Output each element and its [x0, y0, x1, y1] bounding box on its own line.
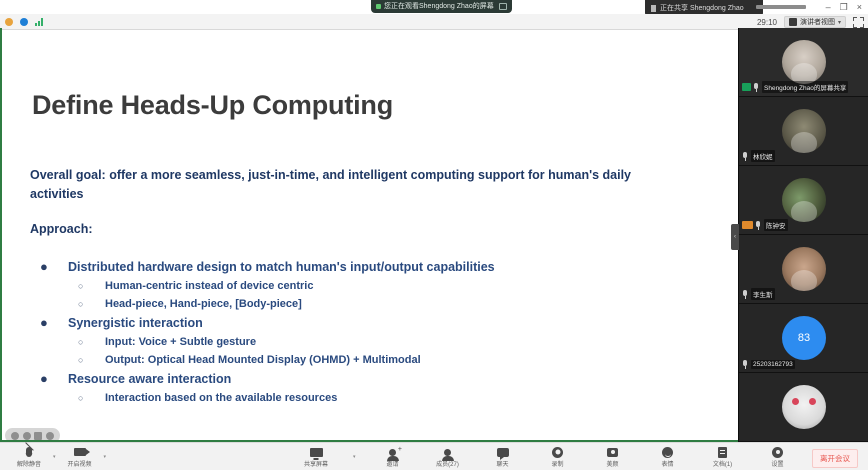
screen-share-icon	[310, 447, 323, 458]
bottom-left-controls: 解除静音▾开启视频▾	[8, 443, 109, 470]
slide-bullet-level-2: ○Input: Voice + Subtle gesture	[30, 334, 690, 351]
participant-name-badge: 陈钟安	[742, 219, 788, 231]
mic-icon	[742, 290, 749, 299]
maximize-icon[interactable]: ❐	[840, 3, 848, 12]
toolbar-button-label: 共享屏幕	[304, 459, 328, 468]
avatar	[782, 40, 826, 84]
bullet-marker-icon: ○	[30, 352, 105, 369]
avatar: 83	[782, 316, 826, 360]
minimize-icon[interactable]: –	[826, 3, 831, 12]
window-icon	[651, 5, 656, 12]
slide-bullet-level-2: ○Human-centric instead of device centric	[30, 278, 690, 295]
bullet-text: Resource aware interaction	[68, 370, 231, 388]
participant-name-badge: 林欣妮	[742, 150, 775, 162]
mic-icon	[742, 152, 749, 161]
screen-share-status-label: 您正在观看Shengdong Zhao的屏幕	[384, 0, 494, 13]
view-switch-button[interactable]: 演讲者视图 ▾	[784, 16, 846, 28]
screen-share-icon	[742, 83, 751, 91]
participant-name: Shengdong Zhao的屏幕共享	[762, 81, 848, 93]
pen-icon[interactable]	[23, 432, 31, 440]
toolbar-button-camera-off[interactable]: 开启视频	[59, 443, 101, 470]
slide-title: Define Heads-Up Computing	[32, 90, 393, 121]
toolbar-button-label: 录制	[552, 459, 564, 468]
mic-icon	[755, 221, 762, 230]
chevron-down-icon[interactable]: ▾	[101, 454, 110, 460]
chat-icon	[497, 447, 509, 458]
info-icon[interactable]	[20, 18, 28, 26]
slide-bullet-level-1: ●Distributed hardware design to match hu…	[30, 258, 690, 276]
chevron-down-icon[interactable]: ▾	[350, 454, 359, 460]
prev-slide-icon[interactable]	[11, 432, 19, 440]
participant-name: 林欣妮	[751, 150, 775, 162]
bullet-marker-icon: ●	[30, 370, 68, 388]
toolbar-button-record[interactable]: 录制	[537, 443, 579, 470]
participant-rail[interactable]: ‹ ▾ Shengdong Zhao的屏幕共享林欣妮陈钟安李生斯83252031…	[738, 28, 868, 442]
presenter-toolbar-pill[interactable]	[5, 428, 60, 440]
toolbar-button-invite-person[interactable]: 邀请	[372, 443, 414, 470]
toolbar-button-mic-muted[interactable]: 解除静音	[8, 443, 50, 470]
bullet-text: Human-centric instead of device centric	[105, 278, 313, 295]
chevron-down-icon[interactable]: ▾	[50, 454, 59, 460]
invite-person-icon	[389, 447, 396, 458]
bottom-center-controls: 共享屏幕▾邀请成员(27)聊天录制美颜表情文档(1)设置	[295, 443, 799, 470]
participant-name: 李生斯	[751, 288, 775, 300]
toolbar-button-label: 聊天	[497, 459, 509, 468]
participant-name-badge: 25203162793	[742, 360, 795, 369]
mic-icon	[753, 83, 760, 92]
rail-collapse-handle[interactable]: ‹	[731, 224, 739, 250]
chevron-down-icon: ▾	[838, 19, 841, 26]
toolbar-button-emoji[interactable]: 表情	[647, 443, 689, 470]
bullet-marker-icon: ○	[30, 334, 105, 351]
mic-icon	[742, 360, 749, 369]
slide-approach-label: Approach:	[30, 222, 93, 236]
slide-bullet-level-1: ●Resource aware interaction	[30, 370, 690, 388]
avatar-face	[791, 270, 817, 291]
toolbar-button-label: 设置	[772, 459, 784, 468]
toolbar-button-label: 解除静音	[17, 459, 41, 468]
meeting-bottom-toolbar: 解除静音▾开启视频▾ 共享屏幕▾邀请成员(27)聊天录制美颜表情文档(1)设置 …	[0, 442, 868, 470]
participant-tile[interactable]: 李生斯	[739, 235, 868, 304]
bullet-marker-icon: ●	[30, 258, 68, 276]
top-window-chrome: 您正在观看Shengdong Zhao的屏幕 正在共享 Shengdong Zh…	[0, 0, 868, 14]
avatar	[782, 109, 826, 153]
meeting-timer: 29:10	[757, 18, 777, 27]
bullet-marker-icon: ○	[30, 278, 105, 295]
participants-icon	[444, 447, 451, 458]
document-icon	[718, 447, 727, 458]
bullet-text: Distributed hardware design to match hum…	[68, 258, 495, 276]
window-drag-strip[interactable]	[756, 5, 806, 9]
toolbar-button-document[interactable]: 文档(1)	[702, 443, 744, 470]
view-switch-label: 演讲者视图	[800, 17, 835, 27]
avatar	[782, 178, 826, 222]
participant-tile[interactable]	[739, 373, 868, 442]
participant-name-badge: 李生斯	[742, 288, 775, 300]
avatar	[782, 385, 826, 429]
slide-grid-icon[interactable]	[34, 432, 42, 440]
slide-bullet-list: ●Distributed hardware design to match hu…	[30, 258, 690, 408]
next-slide-icon[interactable]	[46, 432, 54, 440]
toolbar-button-settings-gear[interactable]: 设置	[757, 443, 799, 470]
slide-bullet-level-2: ○Output: Optical Head Mounted Display (O…	[30, 352, 690, 369]
close-icon[interactable]: ×	[857, 3, 862, 12]
slide-bullet-level-2: ○Interaction based on the available reso…	[30, 390, 690, 407]
participant-name-badge: Shengdong Zhao的屏幕共享	[742, 81, 848, 93]
toolbar-button-beauty[interactable]: 美颜	[592, 443, 634, 470]
record-icon	[552, 447, 563, 458]
slide-bullet-level-1: ●Synergistic interaction	[30, 314, 690, 332]
share-border-left	[0, 28, 2, 442]
mic-muted-icon	[26, 447, 32, 458]
stop-share-icon[interactable]	[499, 3, 507, 10]
presentation-slide: Define Heads-Up Computing Overall goal: …	[0, 30, 738, 440]
shield-icon[interactable]	[5, 18, 13, 26]
avatar-decor-icon	[792, 398, 799, 405]
toolbar-button-label: 文档(1)	[713, 459, 732, 468]
slide-bullet-level-2: ○Head-piece, Hand-piece, [Body-piece]	[30, 296, 690, 313]
beauty-icon	[607, 447, 618, 458]
emoji-icon	[662, 447, 673, 458]
avatar-face	[791, 132, 817, 153]
network-signal-icon[interactable]	[35, 18, 44, 26]
participant-tile[interactable]: 林欣妮	[739, 97, 868, 166]
bullet-text: Synergistic interaction	[68, 314, 203, 332]
participant-name: 25203162793	[751, 360, 795, 369]
avatar	[782, 247, 826, 291]
sharing-window-title: 正在共享 Shengdong Zhao	[660, 3, 744, 13]
bullet-text: Output: Optical Head Mounted Display (OH…	[105, 352, 421, 369]
participant-tile[interactable]: 8325203162793	[739, 304, 868, 373]
settings-gear-icon	[772, 447, 783, 458]
bullet-text: Interaction based on the available resou…	[105, 390, 337, 407]
bullet-text: Input: Voice + Subtle gesture	[105, 334, 256, 351]
toolbar-button-label: 美颜	[607, 459, 619, 468]
participant-tile[interactable]: 陈钟安	[739, 166, 868, 235]
participant-name: 陈钟安	[764, 219, 788, 231]
toolbar-button-label: 表情	[662, 459, 674, 468]
bullet-marker-icon: ○	[30, 390, 105, 407]
window-controls: – ❐ ×	[826, 0, 866, 14]
leave-meeting-button[interactable]: 离开会议	[812, 449, 858, 468]
recording-dot-icon	[376, 4, 381, 9]
slide-overall-goal: Overall goal: offer a more seamless, jus…	[30, 166, 680, 205]
layout-icon	[789, 18, 797, 26]
participant-tile[interactable]: Shengdong Zhao的屏幕共享	[739, 28, 868, 97]
toolbar-button-label: 开启视频	[68, 459, 92, 468]
camera-off-icon	[74, 447, 86, 458]
toolbar-button-participants[interactable]: 成员(27)	[427, 443, 469, 470]
screen-share-status-pill[interactable]: 您正在观看Shengdong Zhao的屏幕	[371, 0, 512, 13]
app-bar-left-icons	[5, 14, 44, 30]
toolbar-button-chat[interactable]: 聊天	[482, 443, 524, 470]
avatar-face	[791, 201, 817, 222]
avatar-decor-icon	[809, 398, 816, 405]
shared-screen-area[interactable]: Define Heads-Up Computing Overall goal: …	[0, 30, 738, 440]
fullscreen-icon[interactable]	[853, 17, 864, 28]
host-badge-icon	[742, 221, 753, 229]
bullet-text: Head-piece, Hand-piece, [Body-piece]	[105, 296, 302, 313]
toolbar-button-screen-share[interactable]: 共享屏幕	[295, 443, 337, 470]
bullet-marker-icon: ○	[30, 296, 105, 313]
bullet-marker-icon: ●	[30, 314, 68, 332]
